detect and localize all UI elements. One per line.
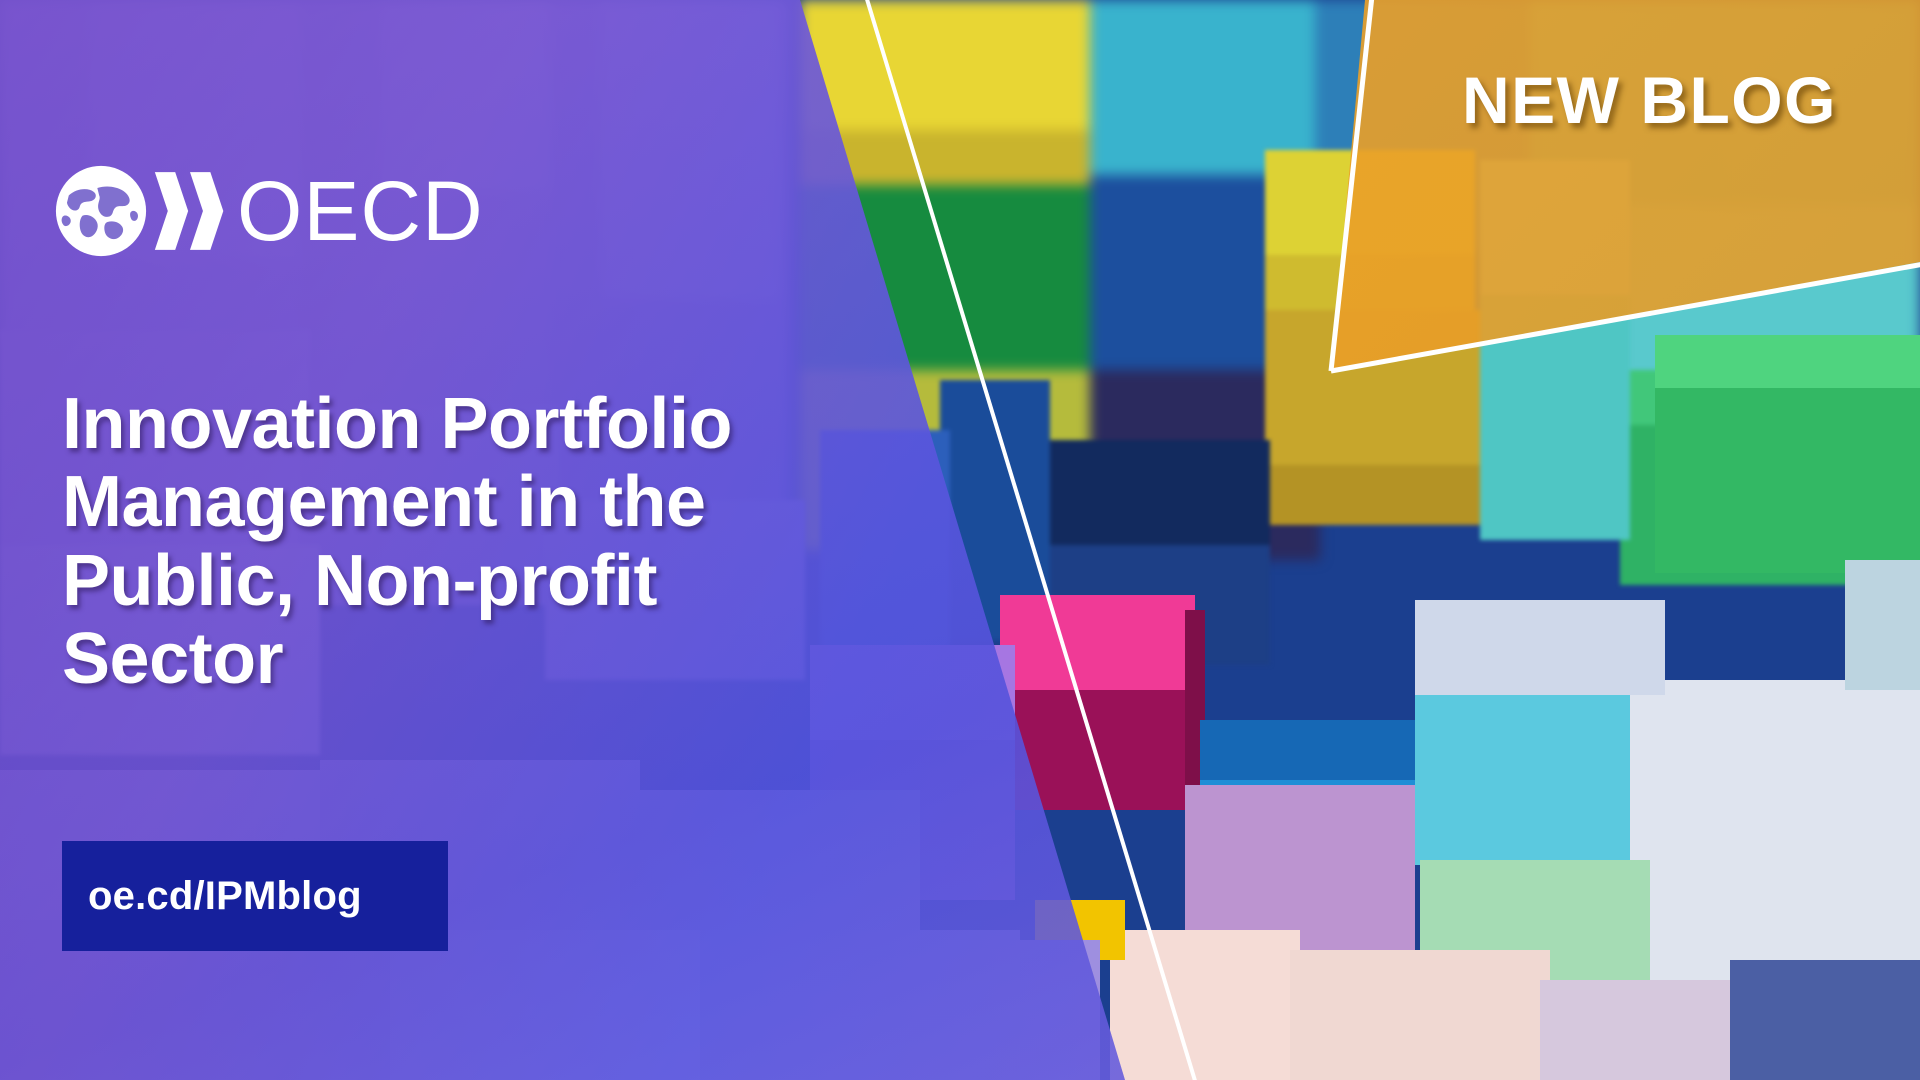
globe-icon: [55, 165, 147, 257]
headline-line-1: Innovation Portfolio: [62, 385, 962, 463]
double-chevron-icon: [153, 168, 227, 254]
oecd-promo-banner: OECD Innovation Portfolio Management in …: [0, 0, 1920, 1080]
url-badge-label: oe.cd/IPMblog: [62, 874, 362, 919]
headline-line-2: Management in the: [62, 463, 962, 541]
headline-line-4: Sector: [62, 620, 962, 698]
new-blog-tag: NEW BLOG: [1462, 62, 1837, 138]
oecd-wordmark: OECD: [237, 169, 484, 253]
oecd-logo: OECD: [55, 165, 484, 257]
headline-line-3: Public, Non-profit: [62, 542, 962, 620]
url-badge[interactable]: oe.cd/IPMblog: [62, 841, 448, 951]
page-title: Innovation Portfolio Management in the P…: [62, 385, 962, 699]
